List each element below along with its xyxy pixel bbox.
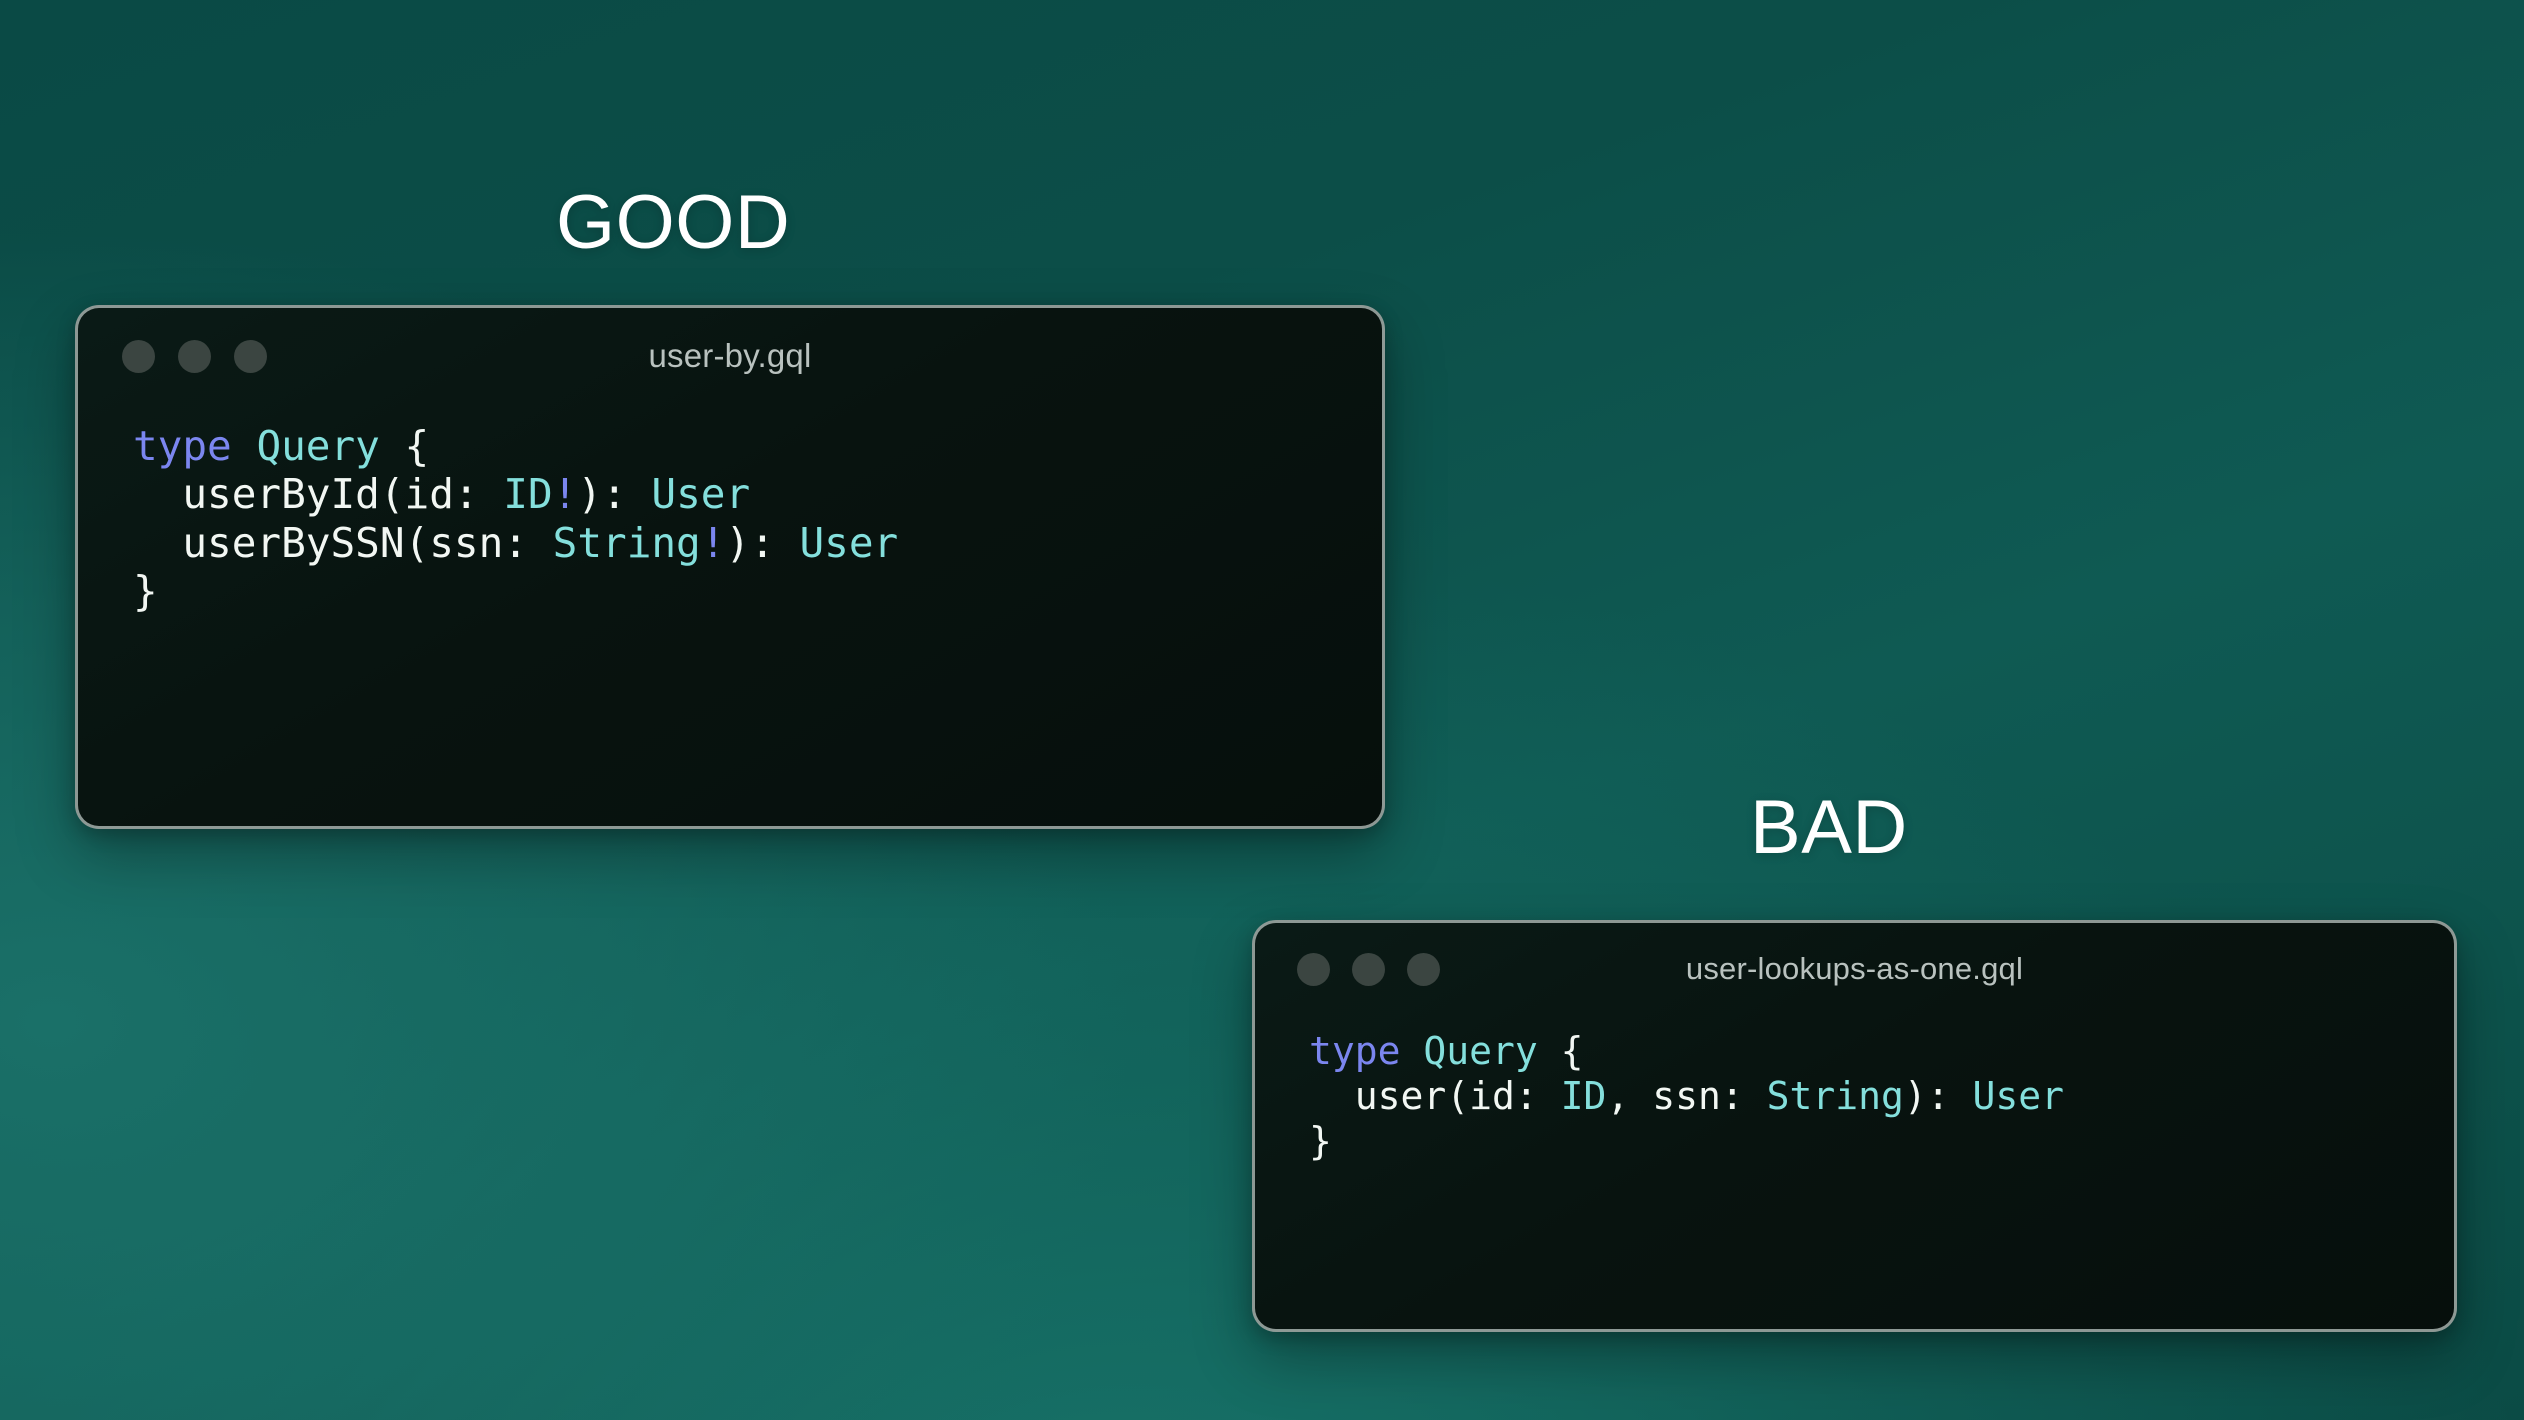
code-token-punct: } <box>133 567 158 615</box>
zoom-dot-icon[interactable] <box>1407 953 1440 986</box>
window-titlebar: user-by.gql <box>78 308 1382 404</box>
code-line: userById(id: ID!): User <box>133 470 1382 518</box>
code-window-good: user-by.gql type Query { userById(id: ID… <box>75 305 1385 829</box>
code-line: userBySSN(ssn: String!): User <box>133 519 1382 567</box>
code-token-plain: userById(id: <box>133 470 503 518</box>
close-dot-icon[interactable] <box>122 340 155 373</box>
code-token-type: String <box>1767 1074 1904 1118</box>
code-token-kw: type <box>133 422 232 470</box>
code-token-type: ID <box>1561 1074 1607 1118</box>
code-token-plain: userBySSN(ssn: <box>133 519 553 567</box>
code-token-punct: { <box>1538 1029 1584 1073</box>
code-token-type: String <box>553 519 701 567</box>
traffic-light-dots <box>1297 953 1440 986</box>
code-token-punct: { <box>380 422 429 470</box>
minimize-dot-icon[interactable] <box>178 340 211 373</box>
code-token-punct: } <box>1309 1119 1332 1163</box>
code-token-plain: ): <box>1904 1074 1973 1118</box>
code-token-type: Query <box>1423 1029 1537 1073</box>
code-line: } <box>1309 1119 2454 1164</box>
code-line: type Query { <box>1309 1029 2454 1074</box>
code-token-type: User <box>1973 1074 2065 1118</box>
code-token-bang: ! <box>701 519 726 567</box>
code-token-plain <box>1401 1029 1424 1073</box>
code-token-type: User <box>651 470 750 518</box>
code-window-bad: user-lookups-as-one.gql type Query { use… <box>1252 920 2457 1332</box>
code-block-bad: type Query { user(id: ID, ssn: String): … <box>1255 1015 2454 1163</box>
close-dot-icon[interactable] <box>1297 953 1330 986</box>
code-token-plain: user(id: <box>1309 1074 1561 1118</box>
code-token-bang: ! <box>553 470 578 518</box>
traffic-light-dots <box>122 340 267 373</box>
code-token-type: User <box>800 519 899 567</box>
code-token-plain: ): <box>577 470 651 518</box>
code-token-type: Query <box>256 422 379 470</box>
good-label: GOOD <box>556 185 790 261</box>
window-title-good: user-by.gql <box>78 337 1382 375</box>
comparison-figure: GOOD user-by.gql type Query { userById(i… <box>0 0 2524 1420</box>
window-titlebar: user-lookups-as-one.gql <box>1255 923 2454 1015</box>
minimize-dot-icon[interactable] <box>1352 953 1385 986</box>
code-token-type: ID <box>503 470 552 518</box>
code-token-plain: , ssn: <box>1606 1074 1766 1118</box>
bad-label: BAD <box>1750 790 1908 866</box>
code-line: type Query { <box>133 422 1382 470</box>
code-block-good: type Query { userById(id: ID!): User use… <box>78 404 1382 616</box>
code-token-plain <box>232 422 257 470</box>
code-line: user(id: ID, ssn: String): User <box>1309 1074 2454 1119</box>
code-line: } <box>133 567 1382 615</box>
zoom-dot-icon[interactable] <box>234 340 267 373</box>
code-token-plain: ): <box>725 519 799 567</box>
code-token-kw: type <box>1309 1029 1401 1073</box>
